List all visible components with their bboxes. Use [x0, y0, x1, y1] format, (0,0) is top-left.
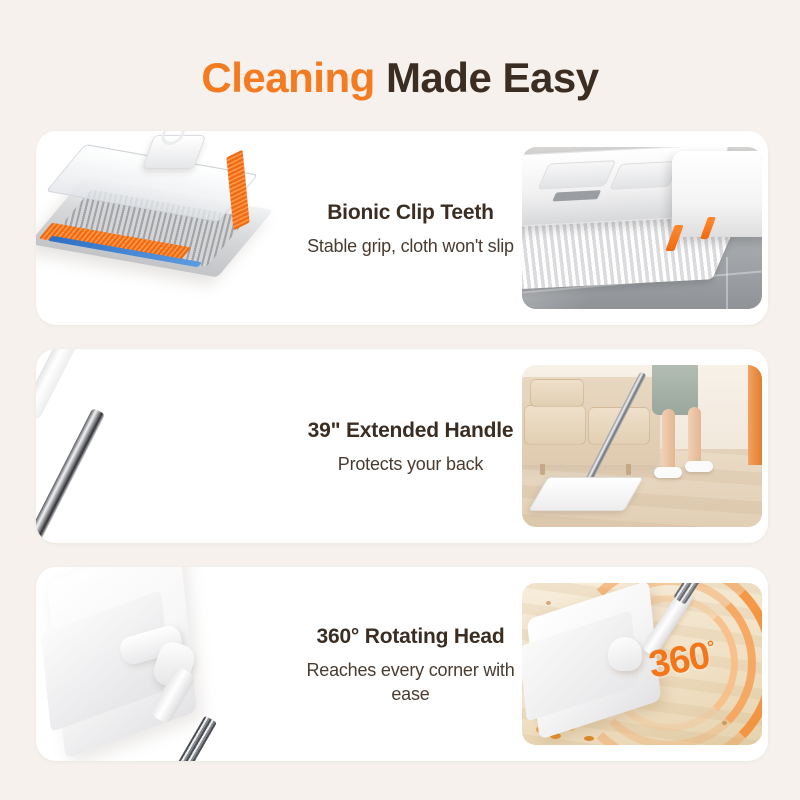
mop-slot — [537, 160, 616, 189]
floor-debris — [546, 601, 551, 605]
feature-text-block-1: Bionic Clip Teeth Stable grip, cloth won… — [298, 131, 523, 325]
extendable-handle-pole-image — [36, 349, 306, 543]
product-feature-infographic: Cleaning Made Easy Bionic Clip Teeth Sta… — [0, 0, 800, 800]
feature-text-block-3: 360° Rotating Head Reaches every corner … — [298, 567, 523, 761]
feature-heading-1: Bionic Clip Teeth — [327, 199, 494, 226]
person-slipper — [685, 461, 713, 472]
floor-debris — [584, 736, 594, 741]
mop-slot — [609, 161, 680, 190]
person-leg — [662, 409, 675, 471]
mop-head-bionic-clip-teeth-image — [36, 131, 306, 325]
mop-head-block-shape — [672, 151, 762, 237]
tile-grout-line — [726, 257, 728, 309]
feature-text-block-2: 39" Extended Handle Protects your back — [298, 349, 523, 543]
mop-grip-bar — [552, 190, 601, 201]
rotating-mop-head-image — [36, 567, 306, 761]
mop-head-on-floor-shape — [528, 477, 644, 511]
sofa-leg — [540, 464, 545, 475]
feature-heading-2: 39" Extended Handle — [308, 417, 514, 444]
handle-white-grip-shape — [36, 349, 81, 423]
person-slipper — [654, 467, 682, 478]
handle-chrome-pole-shape — [36, 408, 105, 543]
chrome-pole-shape — [175, 716, 217, 762]
swivel-joint-shape — [608, 637, 642, 671]
photo-clip-gripping-cloth — [522, 147, 762, 309]
sofa-back-cushion — [530, 379, 584, 407]
floor-debris — [722, 721, 727, 725]
page-title: Cleaning Made Easy — [0, 52, 800, 104]
feature-card-bionic-clip-teeth: Bionic Clip Teeth Stable grip, cloth won… — [36, 131, 768, 325]
page-title-accent: Cleaning — [201, 54, 374, 101]
page-title-dark: Made Easy — [375, 54, 599, 101]
photo-person-mopping-living-room — [522, 365, 762, 527]
badge-360-number: 360 — [646, 635, 713, 687]
feature-description-3: Reaches every corner with ease — [298, 658, 523, 706]
photo-360-rotating-head: 360° — [522, 583, 762, 745]
feature-card-extended-handle: 39" Extended Handle Protects your back — [36, 349, 768, 543]
feature-card-rotating-head: 360° Rotating Head Reaches every corner … — [36, 567, 768, 761]
feature-heading-3: 360° Rotating Head — [316, 623, 504, 650]
sofa-cushion — [524, 405, 586, 445]
orange-curtain-shape — [748, 365, 762, 465]
person-leg — [688, 407, 701, 469]
sofa-leg — [626, 464, 631, 475]
feature-description-1: Stable grip, cloth won't slip — [307, 234, 514, 258]
feature-description-2: Protects your back — [338, 452, 483, 476]
